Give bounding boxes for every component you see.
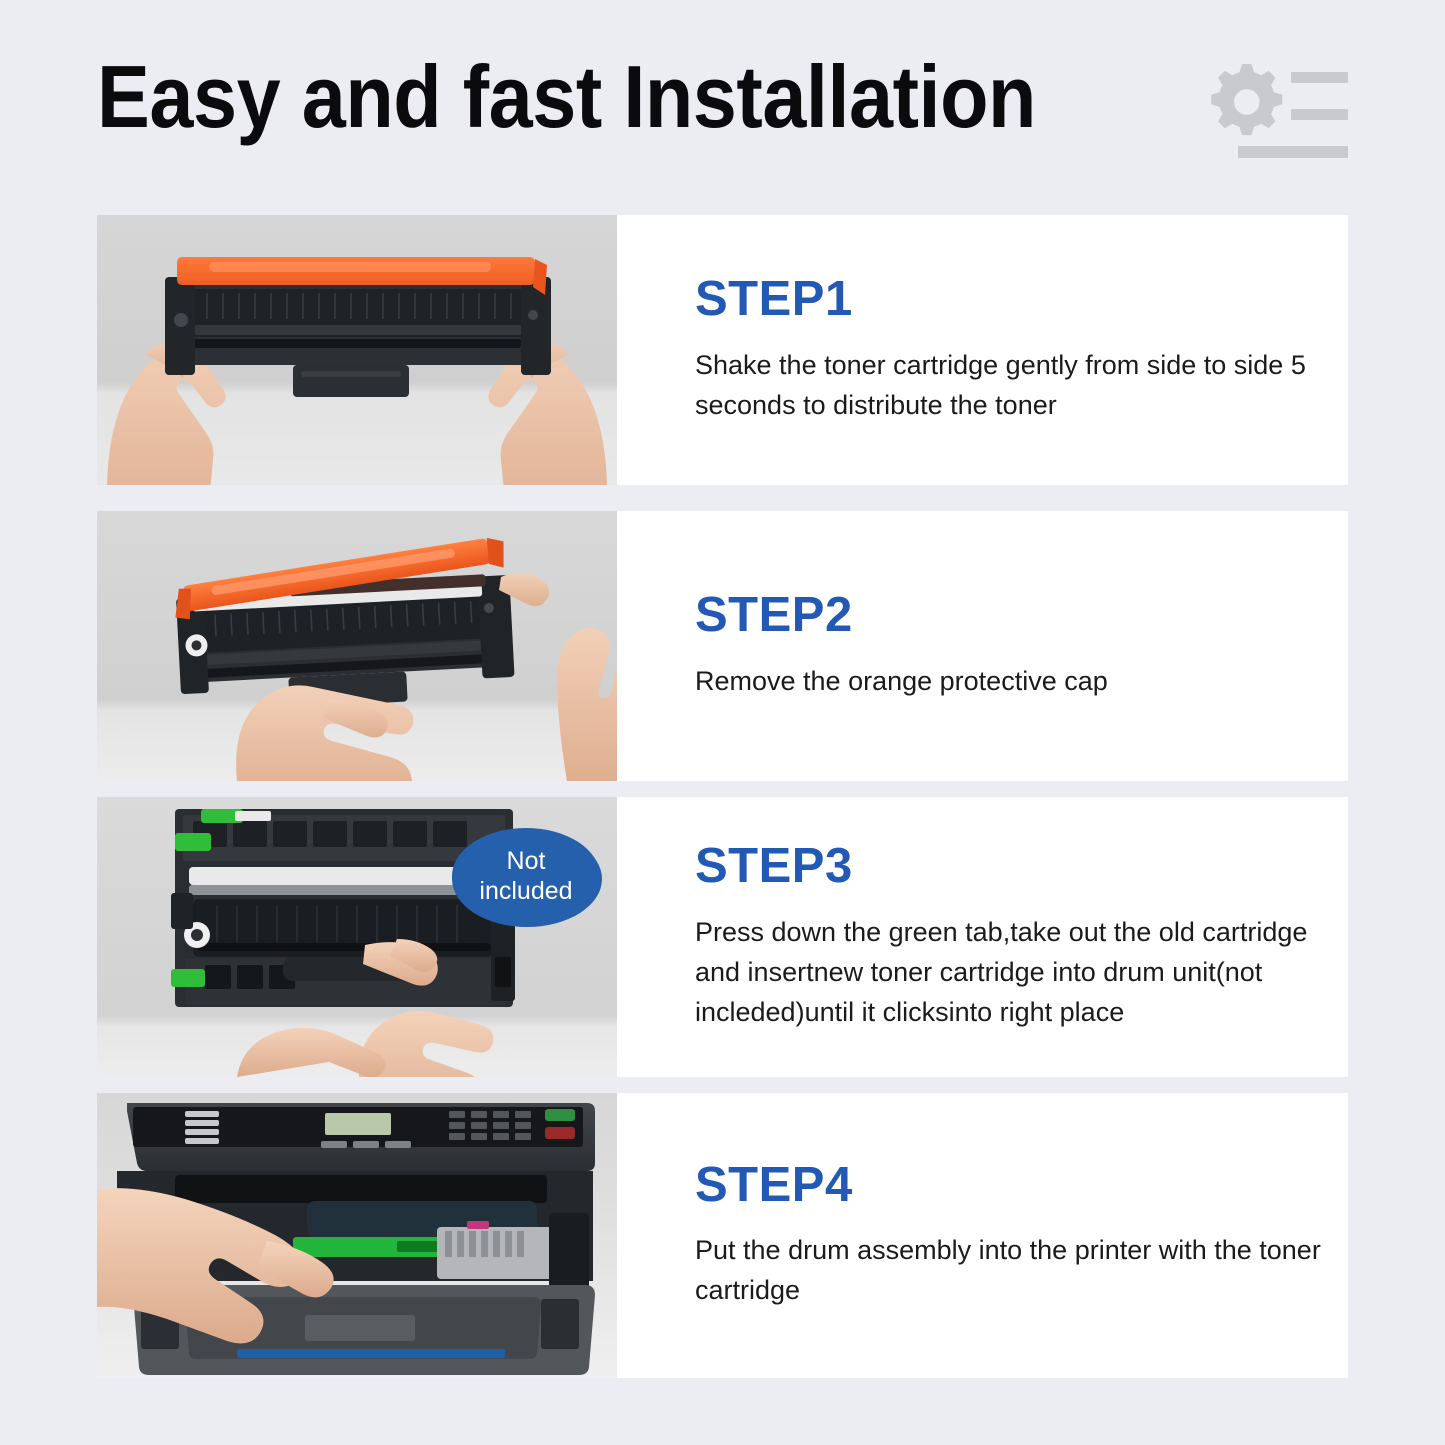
step-row: Not included STEP3 Press down the green … — [97, 797, 1348, 1077]
step-row: STEP1 Shake the toner cartridge gently f… — [97, 215, 1348, 485]
page-header: Easy and fast Installation — [0, 0, 1445, 215]
step3-text: STEP3 Press down the green tab,take out … — [617, 797, 1348, 1077]
step2-text: STEP2 Remove the orange protective cap — [617, 511, 1348, 781]
step-row: STEP2 Remove the orange protective cap — [97, 511, 1348, 781]
step3-label: STEP3 — [695, 841, 1324, 892]
step2-description: Remove the orange protective cap — [695, 662, 1324, 702]
not-included-line2: included — [479, 876, 572, 907]
step4-photo — [97, 1093, 617, 1378]
step2-photo — [97, 511, 617, 781]
page-title: Easy and fast Installation — [97, 53, 1036, 141]
gear-settings-icon — [1196, 58, 1348, 170]
step1-label: STEP1 — [695, 274, 1324, 325]
step4-label: STEP4 — [695, 1160, 1324, 1211]
step3-photo: Not included — [97, 797, 617, 1077]
not-included-badge: Not included — [452, 828, 600, 924]
step4-text: STEP4 Put the drum assembly into the pri… — [617, 1093, 1348, 1378]
step-row: STEP4 Put the drum assembly into the pri… — [97, 1093, 1348, 1378]
step1-description: Shake the toner cartridge gently from si… — [695, 346, 1324, 426]
step1-photo — [97, 215, 617, 485]
step4-description: Put the drum assembly into the printer w… — [695, 1231, 1324, 1311]
step2-label: STEP2 — [695, 590, 1324, 641]
not-included-line1: Not — [507, 846, 546, 877]
step1-text: STEP1 Shake the toner cartridge gently f… — [617, 215, 1348, 485]
step3-description: Press down the green tab,take out the ol… — [695, 913, 1324, 1033]
